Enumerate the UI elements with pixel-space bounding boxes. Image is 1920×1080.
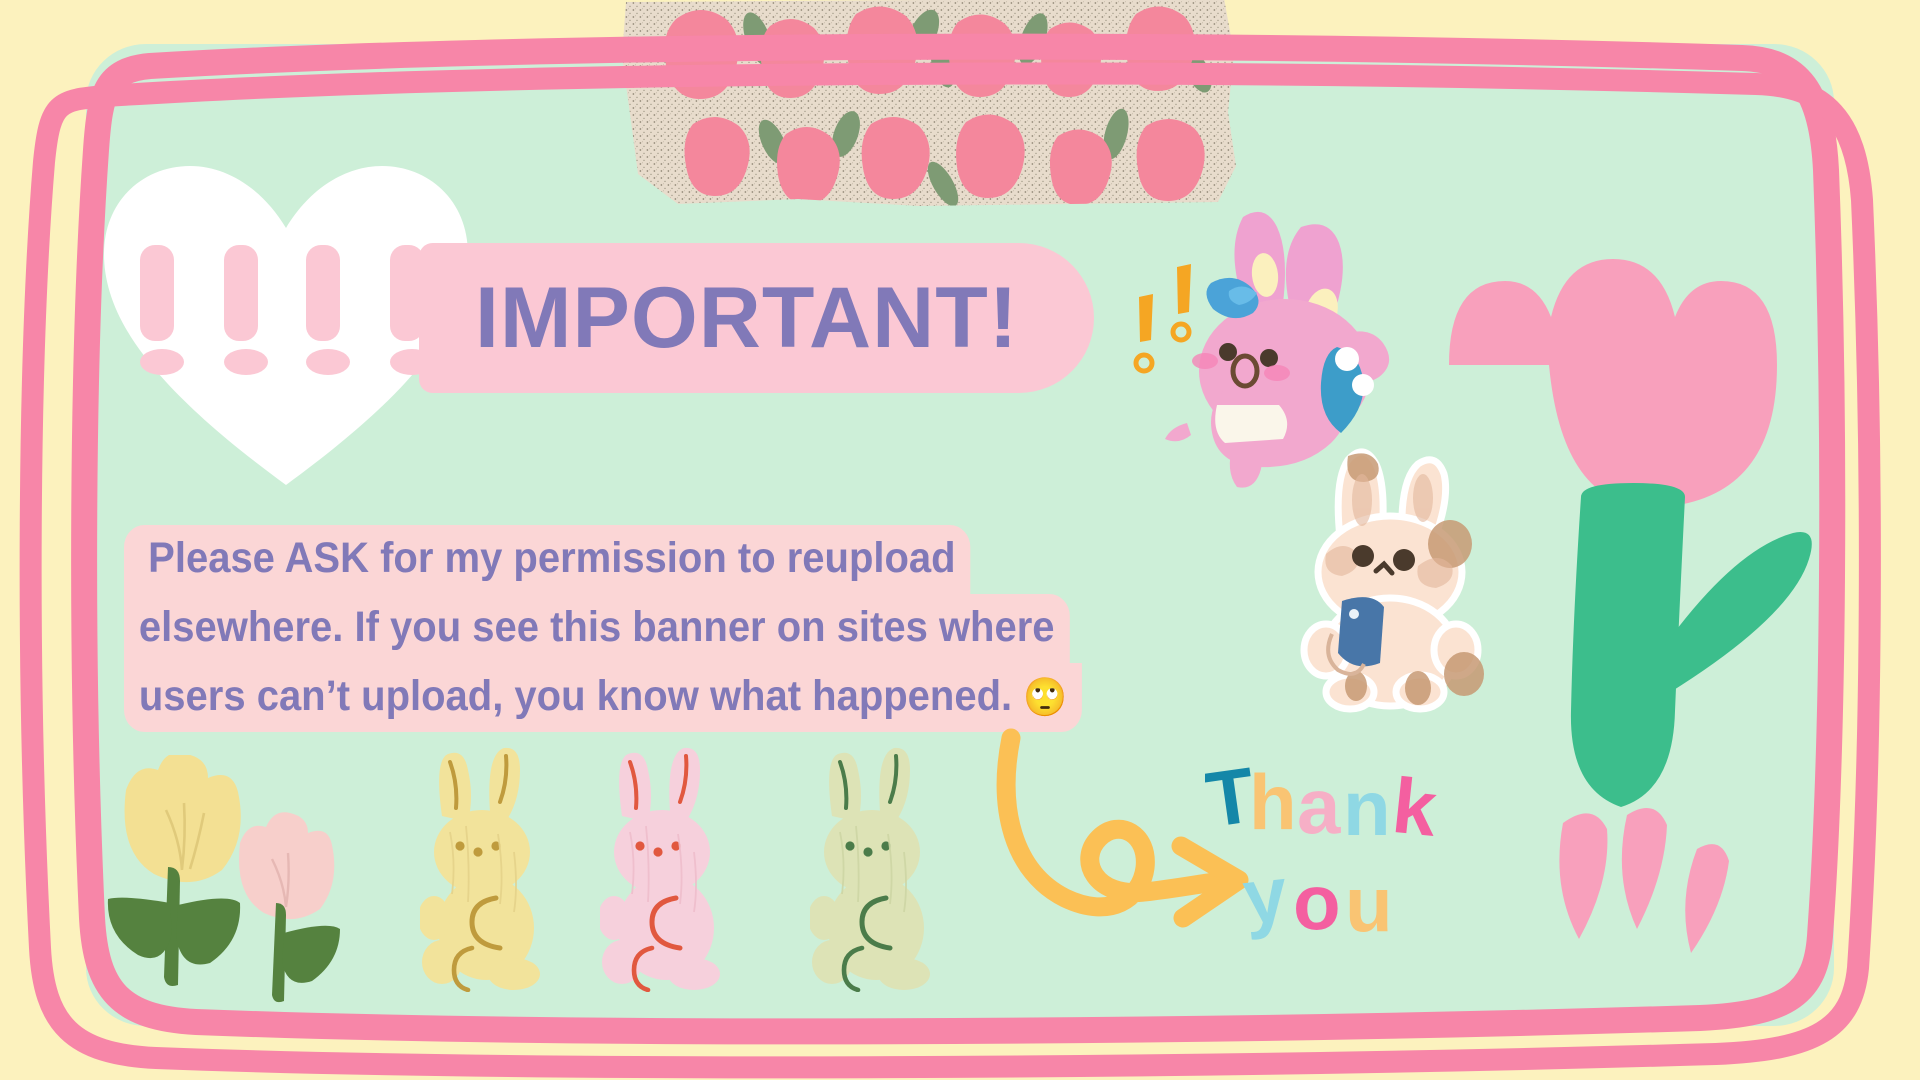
- small-tulips-icon: [96, 755, 376, 1005]
- message-block: Please ASK for my permission to reupload…: [124, 525, 1174, 732]
- message-line-2: elsewhere. If you see this banner on sit…: [124, 594, 1069, 663]
- message-line-1: Please ASK for my permission to reupload: [124, 525, 970, 594]
- green-bunny-figure: [810, 742, 950, 992]
- yellow-tulip: [108, 755, 241, 986]
- pink-tulip: [239, 812, 340, 1002]
- tulip-washi-tape: [618, 0, 1244, 210]
- letter-h: h: [1249, 758, 1297, 846]
- letter-o: o: [1293, 858, 1341, 945]
- rolling-eyes-emoji-icon: 🙄: [1023, 677, 1067, 719]
- letter-n: n: [1343, 764, 1391, 852]
- exclamation-icon: [1136, 264, 1191, 371]
- banner-canvas: IMPORTANT!: [0, 0, 1920, 1080]
- letter-k: k: [1388, 761, 1441, 853]
- letter-a: a: [1297, 762, 1341, 850]
- thank-you-lettering: T h a n k y o u: [1205, 755, 1505, 945]
- page-title: IMPORTANT!: [475, 269, 1018, 368]
- pink-bunny-figure: [600, 742, 740, 992]
- message-line-3-text: users can’t upload, you know what happen…: [139, 672, 1012, 720]
- important-banner: IMPORTANT!: [419, 243, 1094, 393]
- letter-y: y: [1239, 849, 1291, 941]
- message-line-3: users can’t upload, you know what happen…: [124, 663, 1082, 732]
- letter-u: u: [1345, 860, 1393, 945]
- yellow-bunny-figure: [420, 742, 560, 992]
